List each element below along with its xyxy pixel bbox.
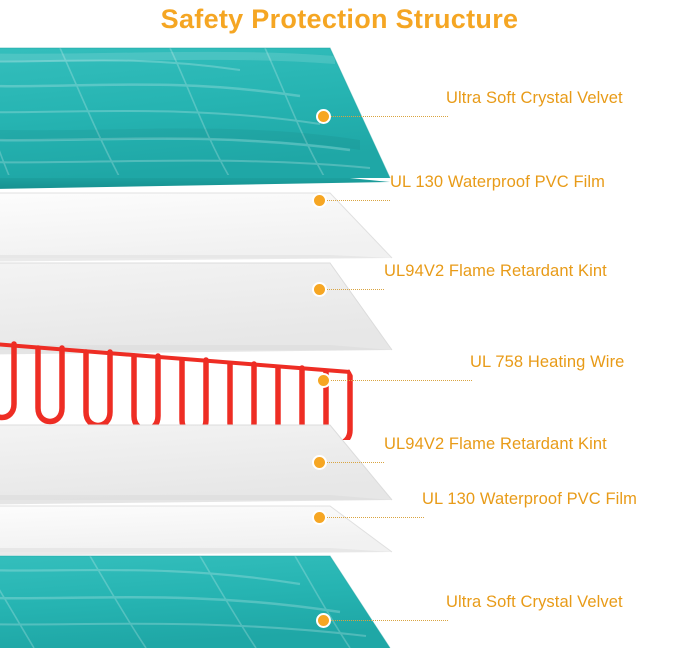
label-velvet-bottom: Ultra Soft Crystal Velvet bbox=[446, 593, 623, 612]
connector-dot-wire bbox=[316, 373, 331, 388]
leader-line-pvc-bottom bbox=[324, 517, 424, 518]
connector-dot-pvc-bottom bbox=[312, 510, 327, 525]
connector-dot-pvc-top bbox=[312, 193, 327, 208]
connector-dot-knit-top bbox=[312, 282, 327, 297]
layer-knit-bottom bbox=[0, 425, 392, 505]
connector-dot-velvet-bottom bbox=[316, 613, 331, 628]
layer-velvet-bottom bbox=[0, 556, 390, 648]
safety-structure-diagram: Safety Protection Structure bbox=[0, 0, 679, 648]
leader-line-wire bbox=[330, 380, 472, 381]
connector-dot-velvet-top bbox=[316, 109, 331, 124]
leader-line-velvet-bottom bbox=[330, 620, 448, 621]
label-pvc-bottom: UL 130 Waterproof PVC Film bbox=[422, 490, 637, 509]
leader-line-knit-top bbox=[324, 289, 384, 290]
label-knit-top: UL94V2 Flame Retardant Kint bbox=[384, 262, 607, 281]
layer-pvc-top bbox=[0, 193, 392, 262]
layer-knit-top bbox=[0, 263, 392, 355]
layer-velvet-top bbox=[0, 48, 390, 190]
leader-line-knit-bottom bbox=[324, 462, 384, 463]
label-heating-wire: UL 758 Heating Wire bbox=[470, 353, 624, 372]
connector-dot-knit-bottom bbox=[312, 455, 327, 470]
leader-line-velvet-top bbox=[330, 116, 448, 117]
layer-pvc-bottom bbox=[0, 506, 392, 556]
leader-line-pvc-top bbox=[324, 200, 390, 201]
label-velvet-top: Ultra Soft Crystal Velvet bbox=[446, 89, 623, 108]
label-knit-bottom: UL94V2 Flame Retardant Kint bbox=[384, 435, 607, 454]
label-pvc-top: UL 130 Waterproof PVC Film bbox=[390, 173, 605, 192]
